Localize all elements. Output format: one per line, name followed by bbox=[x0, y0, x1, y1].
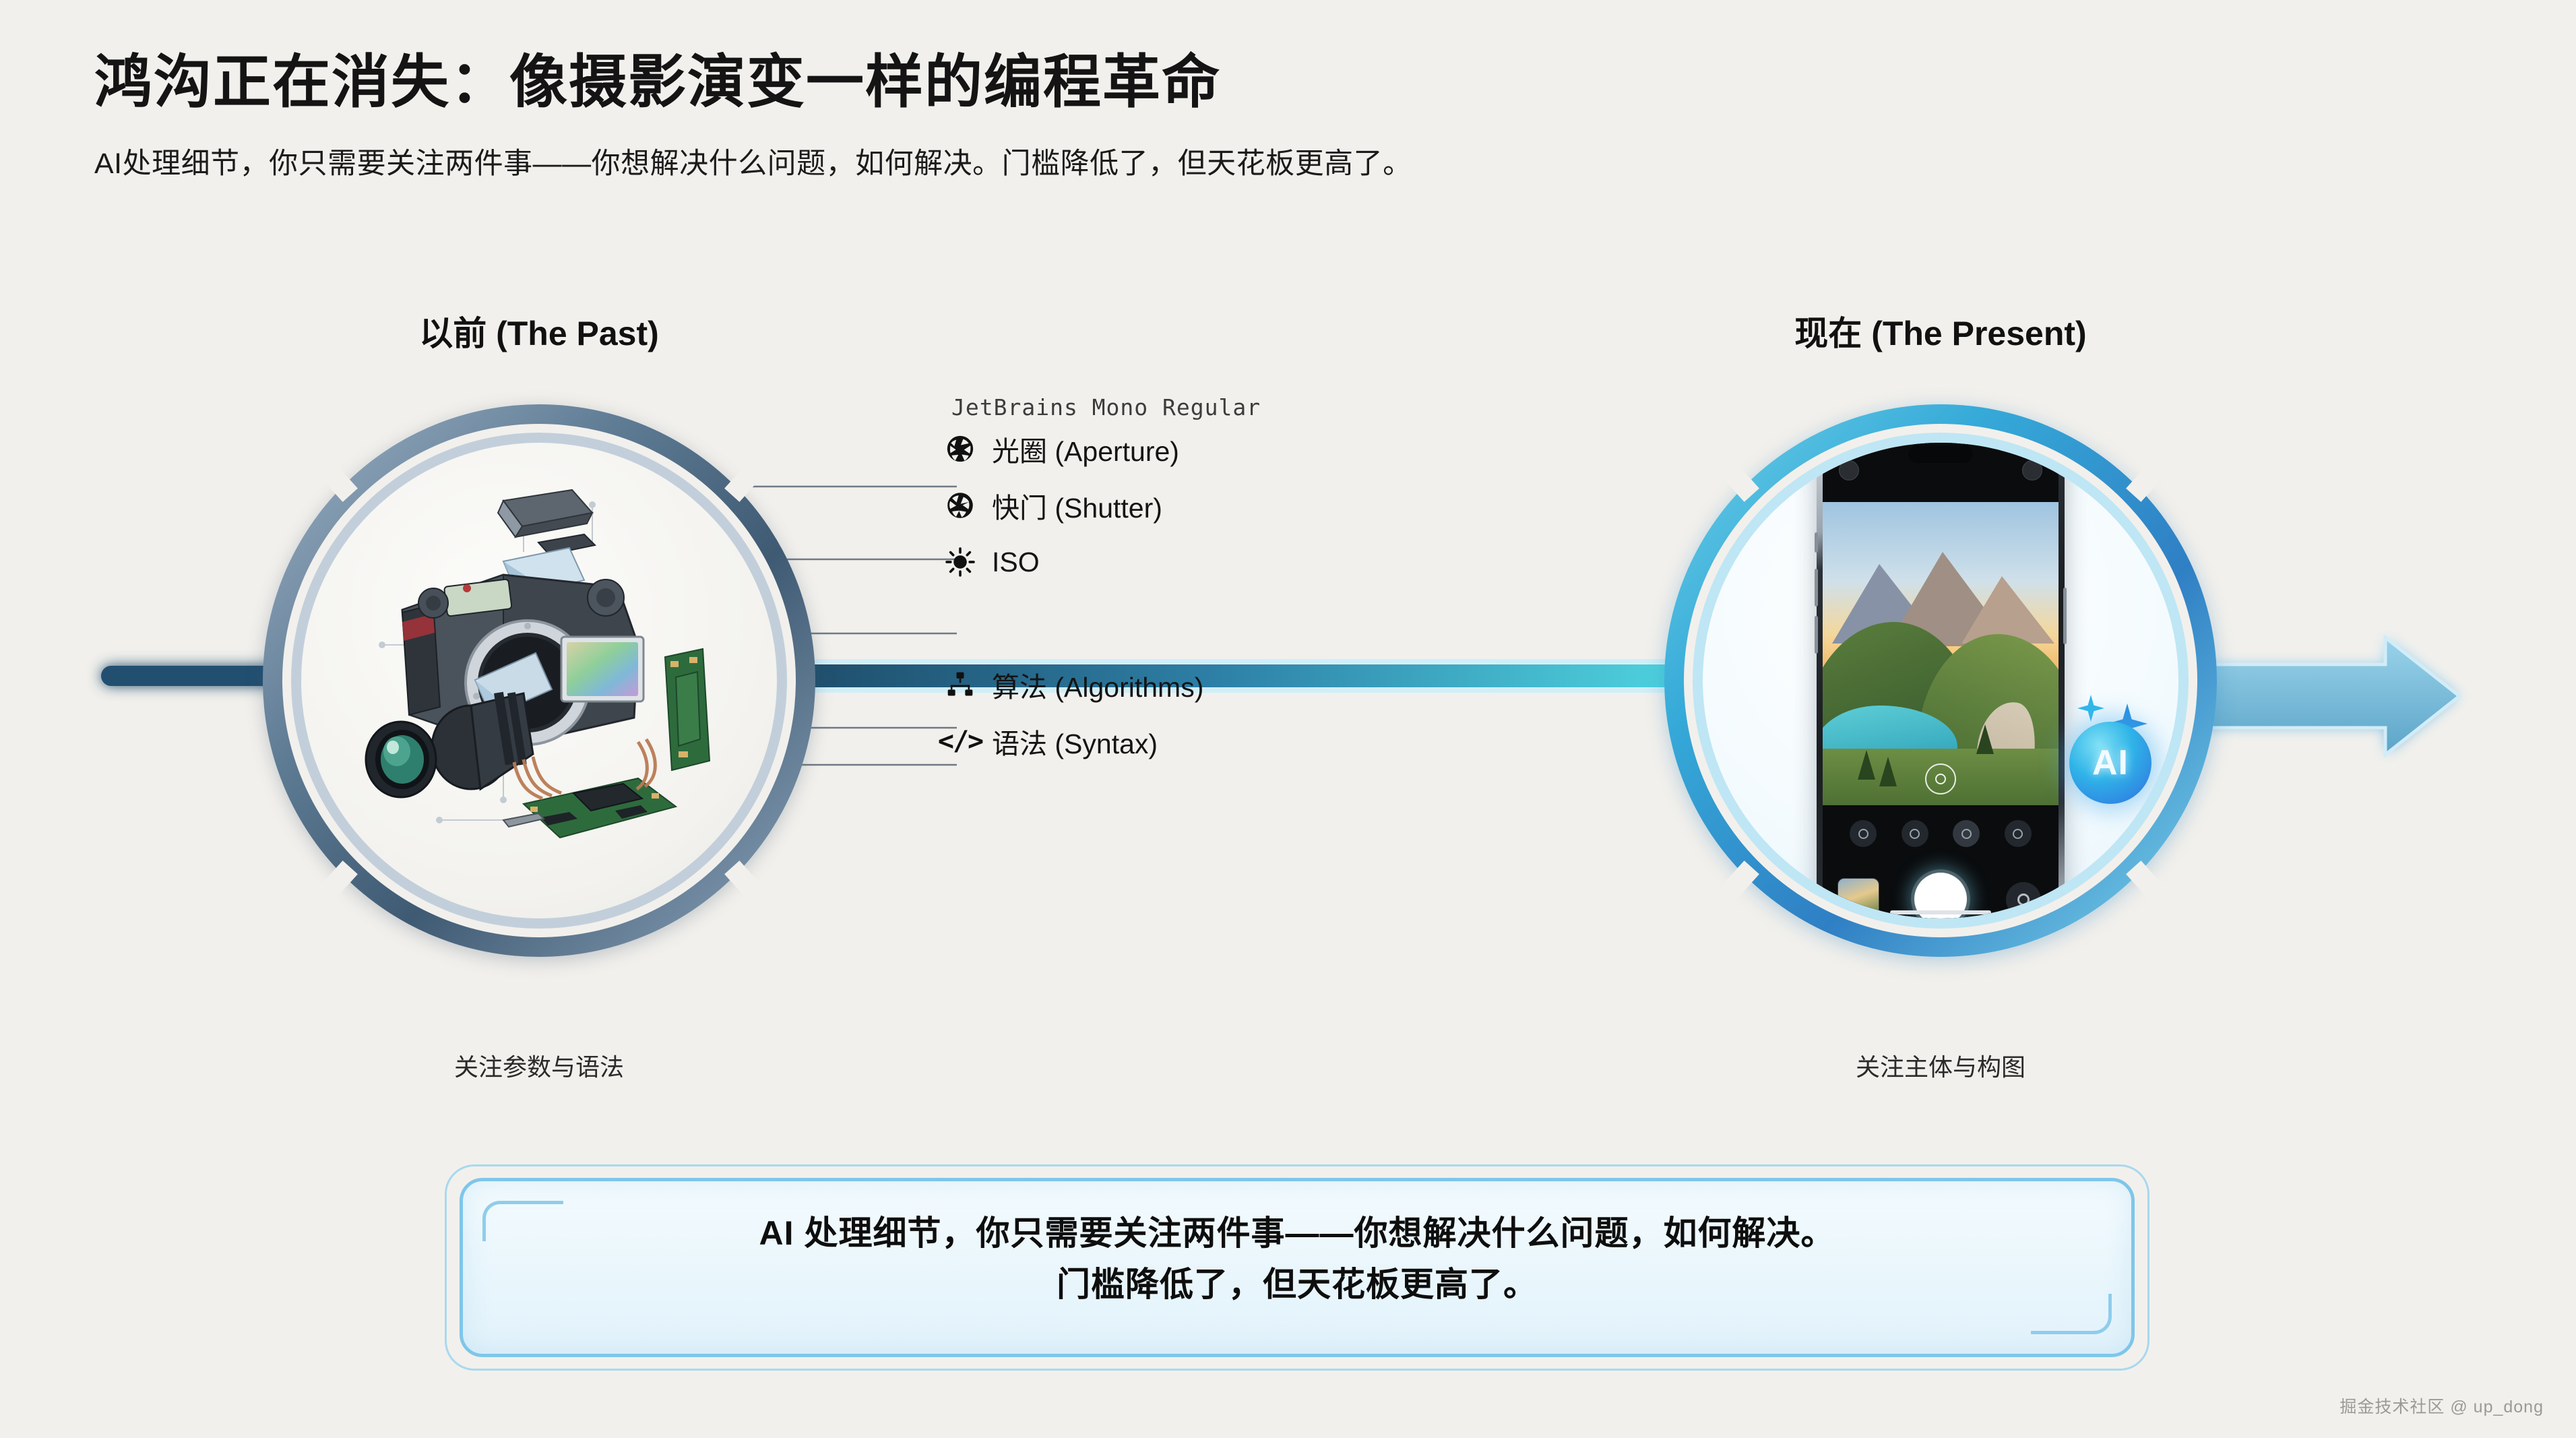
phone-notch bbox=[1908, 445, 1973, 463]
page-header: 鸿沟正在消失：像摄影演变一样的编程革命 AI处理细节，你只需要关注两件事——你想… bbox=[94, 51, 2385, 182]
param-label: ISO bbox=[992, 546, 1040, 578]
callout-line-2: 门槛降低了，但天花板更高了。 bbox=[505, 1259, 2089, 1310]
home-indicator bbox=[1890, 910, 1991, 914]
param-label: 算法 (Algorithms) bbox=[992, 664, 1203, 705]
comparison-stage: 以前 (The Past) 现在 (The Present) 关注参数与语法 关… bbox=[0, 290, 2576, 1132]
param-row-shutter: 快门 (Shutter) bbox=[943, 477, 1752, 534]
aperture-icon bbox=[943, 432, 977, 466]
smartphone-mockup bbox=[1817, 443, 2065, 918]
camera-controls bbox=[1823, 805, 2059, 918]
mode-chip-portrait[interactable] bbox=[1953, 820, 1980, 847]
past-circle bbox=[202, 398, 876, 964]
param-row-algorithms: 算法 (Algorithms) bbox=[943, 656, 1752, 713]
callout-text: AI 处理细节，你只需要关注两件事——你想解决什么问题，如何解决。 门槛降低了，… bbox=[505, 1208, 2089, 1310]
focus-reticle-icon[interactable] bbox=[1925, 763, 1956, 794]
tree bbox=[1976, 724, 1994, 754]
shutter-icon bbox=[943, 489, 977, 522]
camera-viewfinder bbox=[1823, 502, 2059, 805]
tree bbox=[1858, 750, 1875, 780]
mono-font-label: JetBrains Mono Regular bbox=[951, 394, 1752, 420]
ai-badge[interactable]: AI bbox=[2069, 722, 2151, 804]
volume-up-button[interactable] bbox=[1815, 569, 1818, 606]
param-label: 光圈 (Aperture) bbox=[992, 429, 1179, 469]
silent-switch[interactable] bbox=[1815, 532, 1818, 553]
flash-toggle-icon[interactable] bbox=[1839, 460, 1859, 480]
live-photo-toggle-icon[interactable] bbox=[2022, 460, 2042, 480]
page-subtitle: AI处理细节，你只需要关注两件事——你想解决什么问题，如何解决。门槛降低了，但天… bbox=[94, 140, 2385, 182]
callout-line-1: AI 处理细节，你只需要关注两件事——你想解决什么问题，如何解决。 bbox=[505, 1208, 2089, 1259]
page-title: 鸿沟正在消失：像摄影演变一样的编程革命 bbox=[94, 51, 2385, 115]
callout-box: AI 处理细节，你只需要关注两件事——你想解决什么问题，如何解决。 门槛降低了，… bbox=[445, 1164, 2149, 1371]
param-label: 语法 (Syntax) bbox=[992, 721, 1158, 761]
param-row-syntax: </> 语法 (Syntax) bbox=[943, 713, 1752, 770]
sitemap-icon bbox=[943, 668, 977, 701]
volume-down-button[interactable] bbox=[1815, 616, 1818, 654]
param-row-aperture: 光圈 (Aperture) bbox=[943, 420, 1752, 477]
power-button[interactable] bbox=[2063, 588, 2067, 644]
dslr-exploded-illustration bbox=[301, 443, 777, 918]
ai-badge-label: AI bbox=[2092, 743, 2129, 783]
mountain-peak bbox=[1961, 576, 2054, 644]
param-row-iso: ISO bbox=[943, 534, 1752, 590]
gallery-thumbnail[interactable] bbox=[1837, 878, 1879, 918]
flip-camera-icon[interactable] bbox=[2006, 882, 2041, 917]
sparkle-icon bbox=[2075, 693, 2107, 726]
tree bbox=[1879, 757, 1897, 786]
mode-chip-filters[interactable] bbox=[1902, 820, 1928, 847]
present-disc: AI bbox=[1703, 443, 2178, 918]
camera-mode-row bbox=[1823, 820, 2059, 847]
mode-chip-timer[interactable] bbox=[1850, 820, 1877, 847]
parameter-list: JetBrains Mono Regular 光圈 (Aperture) 快门 … bbox=[943, 394, 1752, 770]
mode-chip-ratio[interactable] bbox=[2005, 820, 2032, 847]
past-disc bbox=[301, 443, 777, 918]
param-group-gap bbox=[943, 590, 1752, 656]
watermark: 掘金技术社区 @ up_dong bbox=[2339, 1394, 2544, 1418]
param-label: 快门 (Shutter) bbox=[992, 485, 1162, 526]
iso-sun-icon bbox=[943, 545, 977, 579]
phone-screen bbox=[1823, 443, 2059, 918]
code-tag-icon: </> bbox=[943, 724, 977, 758]
